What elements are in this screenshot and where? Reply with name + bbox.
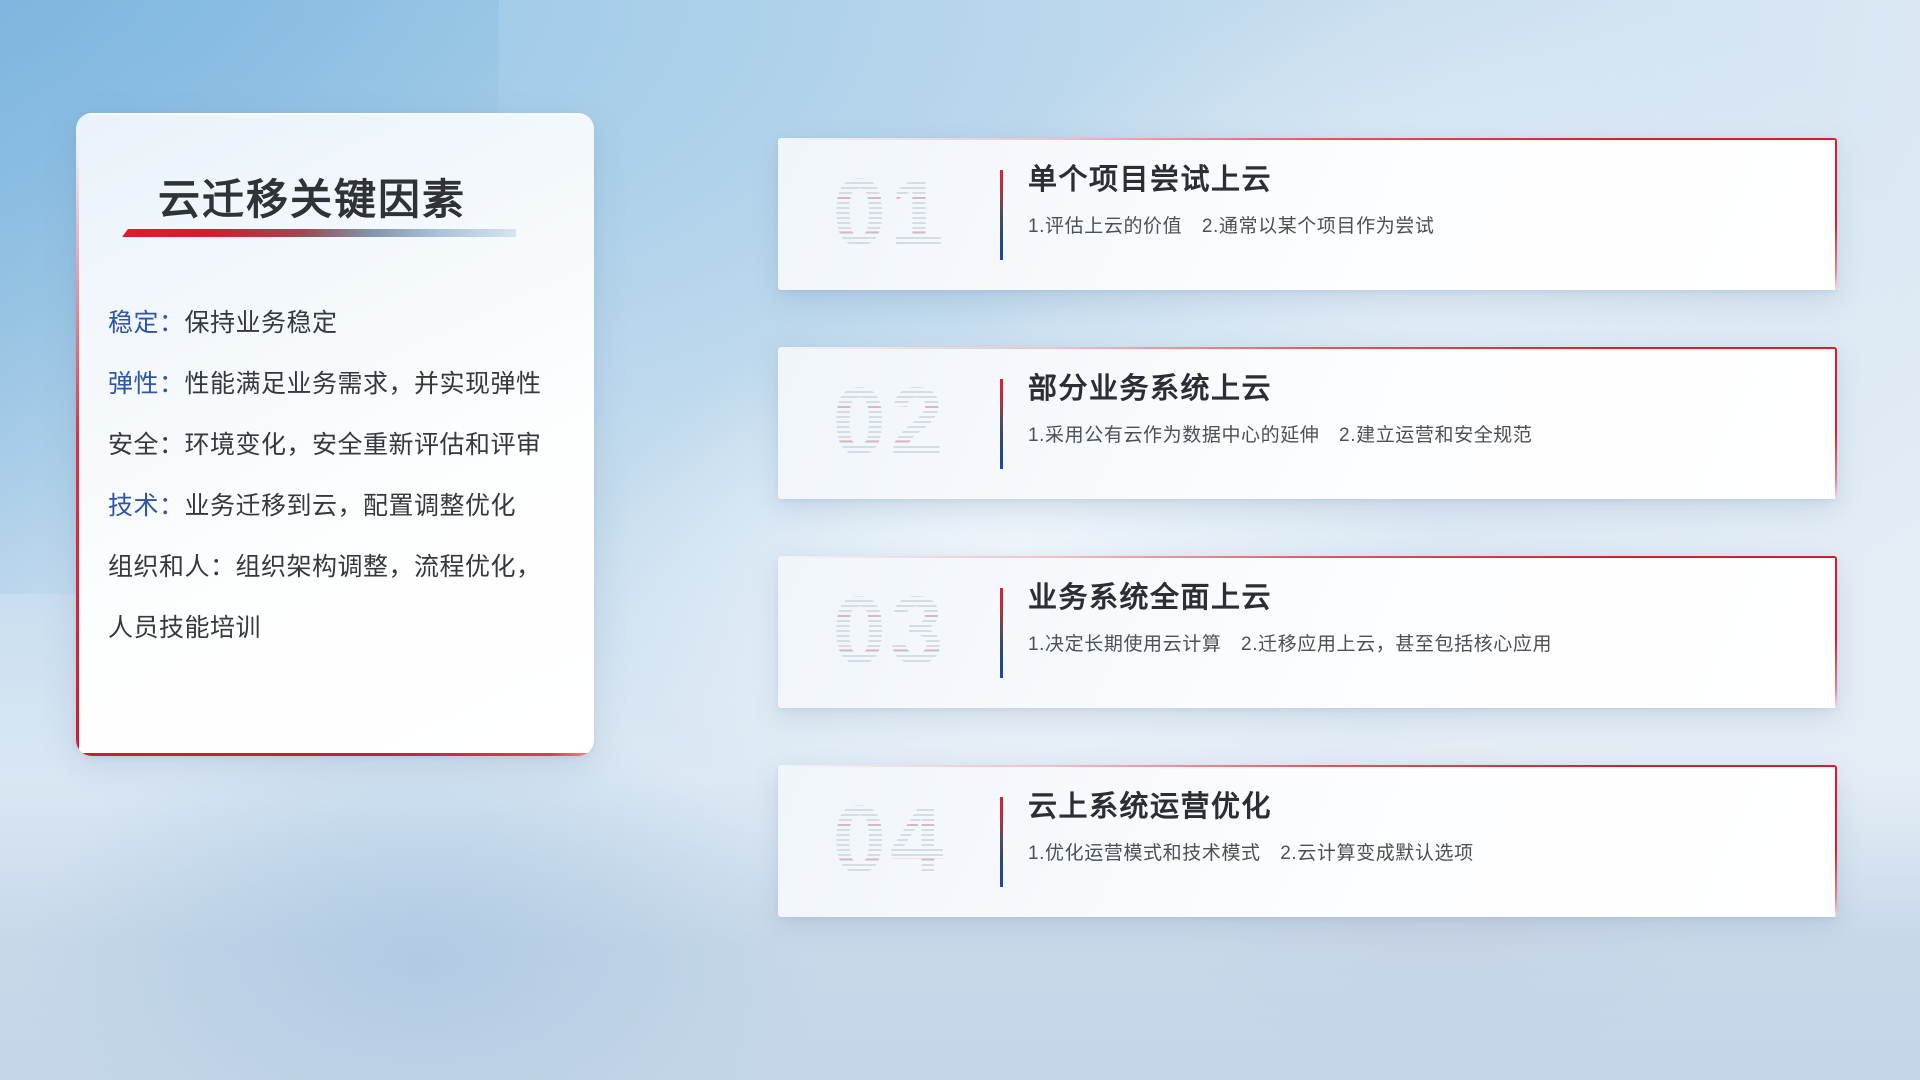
card-top-accent [778,138,1837,140]
factor-label: 组织和人： [108,555,236,580]
step-card[interactable]: 02 02 部分业务系统上云 1.采用公有云作为数据中心的延伸 2.建立运营和安… [778,347,1837,499]
factor-label: 技术： [108,494,185,519]
factor-label: 安全： [108,433,185,458]
factor-text: 环境变化，安全重新评估和评审 [185,433,542,458]
panel-bottom-accent-bar [76,753,594,756]
panel-left-accent-bar [76,141,79,756]
card-body: 云上系统运营优化 1.优化运营模式和技术模式 2.云计算变成默认选项 [1028,789,1809,865]
step-card[interactable]: 04 04 云上系统运营优化 1.优化运营模式和技术模式 2.云计算变成默认选项 [778,765,1837,917]
factor-label: 弹性： [108,372,185,397]
card-right-accent [1835,765,1837,917]
factor-item: 稳定： 保持业务稳定 [108,311,576,336]
factor-label: 稳定： [108,311,185,336]
step-title: 云上系统运营优化 [1028,789,1809,825]
card-top-accent [778,347,1837,349]
card-body: 业务系统全面上云 1.决定长期使用云计算 2.迁移应用上云，甚至包括核心应用 [1028,580,1809,656]
card-right-accent [1835,556,1837,708]
card-divider-bar [1000,797,1003,887]
factor-item: 弹性： 性能满足业务需求，并实现弹性 [108,372,576,397]
card-right-accent [1835,138,1837,290]
card-top-accent [778,765,1837,767]
step-subtitle: 1.评估上云的价值 2.通常以某个项目作为尝试 [1028,211,1809,238]
panel-top-highlight [76,113,594,115]
factor-item: 技术： 业务迁移到云，配置调整优化 [108,494,576,519]
step-subtitle: 1.采用公有云作为数据中心的延伸 2.建立运营和安全规范 [1028,420,1809,447]
factor-text: 性能满足业务需求，并实现弹性 [185,372,542,397]
step-number-watermark-tint: 01 [800,152,980,274]
step-subtitle: 1.决定长期使用云计算 2.迁移应用上云，甚至包括核心应用 [1028,629,1809,656]
step-number-watermark-tint: 02 [800,361,980,483]
step-card[interactable]: 03 03 业务系统全面上云 1.决定长期使用云计算 2.迁移应用上云，甚至包括… [778,556,1837,708]
page-title: 云迁移关键因素 [158,166,466,227]
factor-list: 稳定： 保持业务稳定 弹性： 性能满足业务需求，并实现弹性 安全： 环境变化，安… [108,311,576,677]
factor-item: 安全： 环境变化，安全重新评估和评审 [108,433,576,458]
step-title: 业务系统全面上云 [1028,580,1809,616]
factor-text: 组织架构调整，流程优化， [236,555,542,580]
step-number-watermark-tint: 03 [800,570,980,692]
step-title: 部分业务系统上云 [1028,371,1809,407]
step-number-watermark-tint: 04 [800,779,980,901]
card-divider-bar [1000,170,1003,260]
migration-steps-list: 01 01 单个项目尝试上云 1.评估上云的价值 2.通常以某个项目作为尝试 0… [778,138,1837,974]
card-top-accent [778,556,1837,558]
factor-text: 人员技能培训 [108,616,261,641]
card-body: 部分业务系统上云 1.采用公有云作为数据中心的延伸 2.建立运营和安全规范 [1028,371,1809,447]
step-subtitle: 1.优化运营模式和技术模式 2.云计算变成默认选项 [1028,838,1809,865]
card-divider-bar [1000,379,1003,469]
step-title: 单个项目尝试上云 [1028,162,1809,198]
factor-text: 业务迁移到云，配置调整优化 [185,494,517,519]
factor-item: 组织和人： 组织架构调整，流程优化， [108,555,576,580]
card-right-accent [1835,347,1837,499]
title-underline-gradient [122,229,516,237]
factor-item-continued: 人员技能培训 [108,616,576,641]
step-card[interactable]: 01 01 单个项目尝试上云 1.评估上云的价值 2.通常以某个项目作为尝试 [778,138,1837,290]
key-factors-panel: 云迁移关键因素 稳定： 保持业务稳定 弹性： 性能满足业务需求，并实现弹性 安全… [76,113,594,756]
card-divider-bar [1000,588,1003,678]
factor-text: 保持业务稳定 [185,311,338,336]
card-body: 单个项目尝试上云 1.评估上云的价值 2.通常以某个项目作为尝试 [1028,162,1809,238]
